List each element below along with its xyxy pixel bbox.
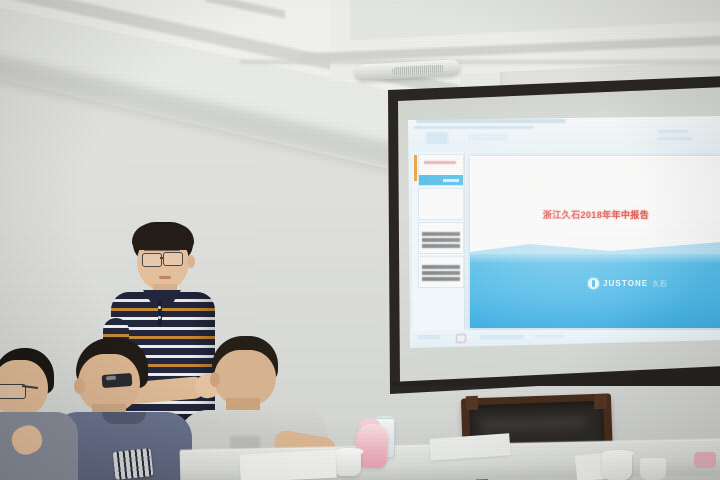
logo-wordmark: JUSTONE	[603, 279, 648, 288]
thumbnail-blue-band	[419, 175, 463, 185]
ribbon-tool-right-b[interactable]	[658, 137, 692, 140]
thumbnail-text-line	[422, 277, 460, 281]
presenter-brow	[144, 249, 180, 251]
selected-slide-marker	[414, 155, 417, 181]
chair-post-left	[466, 396, 478, 410]
pink-object-right	[694, 452, 716, 468]
slide-blue-band	[470, 254, 720, 328]
app-ribbon[interactable]	[408, 116, 720, 150]
white-cup-right-second	[640, 458, 666, 480]
slide-thumbnail-4[interactable]	[418, 256, 464, 288]
thumbnail-text-line	[422, 232, 460, 236]
glasses-icon	[163, 252, 183, 266]
status-theme-label	[480, 335, 524, 339]
justone-logo-icon	[588, 278, 599, 289]
thumbnail-logo	[443, 179, 459, 182]
thumbnail-text-line	[422, 265, 460, 269]
slide-thumbnail-2[interactable]	[418, 188, 464, 220]
presenter-button	[158, 316, 161, 319]
thumbnail-text-line	[422, 244, 460, 248]
audience-2-collar	[102, 412, 146, 424]
glasses-icon	[142, 253, 162, 267]
slide-thumbnail-1[interactable]	[418, 154, 464, 186]
thumbnail-text-line	[422, 271, 460, 275]
slide-logo: JUSTONE 久石	[588, 278, 667, 289]
slide-thumbnail-3[interactable]	[418, 222, 464, 254]
audience-3-ear	[210, 372, 220, 387]
paper-document	[239, 450, 336, 480]
presenter-button	[158, 306, 161, 309]
status-view-icon[interactable]	[456, 334, 466, 343]
logo-chinese-name: 久石	[652, 279, 667, 289]
ribbon-tabs[interactable]	[414, 126, 534, 129]
sunglasses-icon	[102, 373, 133, 388]
white-cup	[334, 450, 361, 476]
presenter-ear	[187, 255, 195, 268]
white-cup-right	[602, 452, 632, 480]
ribbon-tool-group[interactable]	[468, 134, 508, 141]
slide-title: 浙江久石2018年年中报告	[470, 208, 720, 221]
thumbnail-title-text	[424, 161, 456, 164]
projection-screen[interactable]: 浙江久石2018年年中报告 JUSTONE 久石	[380, 76, 720, 396]
presenter-mouth	[159, 276, 171, 279]
presenter-hair-front	[132, 224, 194, 250]
slide-thumbnail-rail[interactable]	[412, 152, 465, 330]
projected-presentation-app[interactable]: 浙江久石2018年年中报告 JUSTONE 久石	[408, 116, 720, 348]
active-slide-canvas[interactable]: 浙江久石2018年年中报告 JUSTONE 久石	[470, 156, 720, 328]
wall-ceiling-joint	[240, 60, 720, 64]
status-language-label	[534, 335, 564, 338]
ribbon-tool-right-a[interactable]	[658, 130, 688, 133]
thumbnail-text-line	[422, 238, 460, 242]
status-slide-count	[418, 335, 440, 339]
meeting-room-photo: 浙江久石2018年年中报告 JUSTONE 久石	[0, 0, 720, 480]
slide-band-highlight	[470, 254, 720, 264]
presenter-placket	[158, 300, 162, 326]
phone-icon	[113, 448, 154, 480]
glasses-bridge	[160, 257, 164, 259]
chair-post-right	[594, 394, 608, 409]
sunglasses-highlight	[106, 376, 116, 381]
ribbon-tool-paste[interactable]	[426, 132, 448, 144]
audience-member-1	[0, 348, 100, 480]
